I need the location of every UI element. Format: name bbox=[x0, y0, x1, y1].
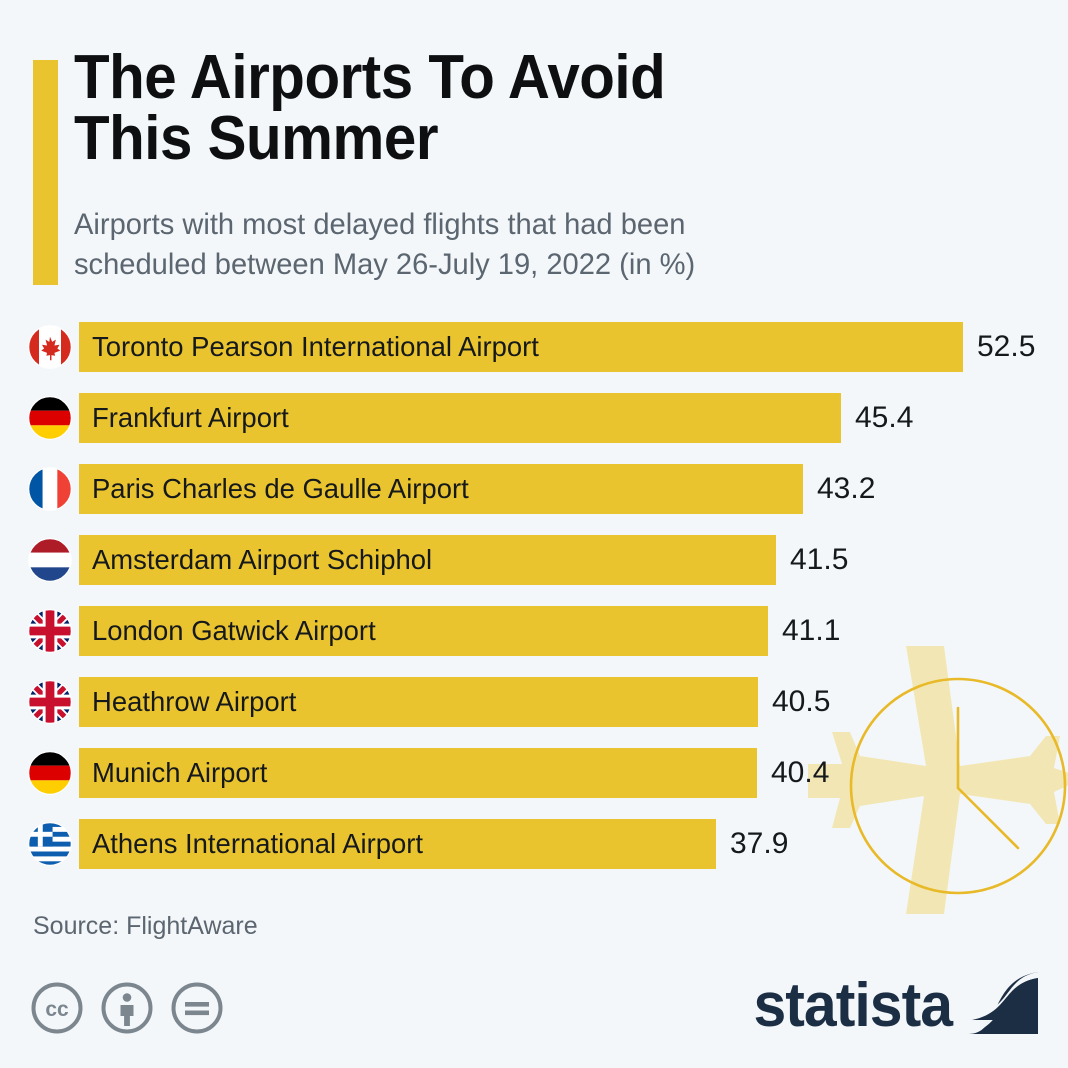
chart-row: Paris Charles de Gaulle Airport43.2 bbox=[0, 464, 1068, 514]
bar-value-label: 52.5 bbox=[977, 322, 1035, 372]
source-note: Source: FlightAware bbox=[33, 912, 258, 941]
bar-value-label: 45.4 bbox=[855, 393, 913, 443]
chart-row: London Gatwick Airport41.1 bbox=[0, 606, 1068, 656]
bar-value-label: 40.5 bbox=[772, 677, 830, 727]
svg-text:cc: cc bbox=[45, 998, 69, 1021]
bar-chart: Toronto Pearson International Airport52.… bbox=[0, 322, 1068, 892]
cc-icon[interactable]: cc bbox=[30, 981, 84, 1035]
title-accent-bar bbox=[33, 60, 58, 285]
header: The Airports To Avoid This Summer Airpor… bbox=[0, 0, 1068, 300]
bar-category-label: Athens International Airport bbox=[92, 819, 423, 869]
flag-germany-icon bbox=[28, 396, 72, 440]
flag-united-kingdom-icon bbox=[28, 609, 72, 653]
flag-united-kingdom-icon bbox=[28, 680, 72, 724]
bar-value-label: 41.1 bbox=[782, 606, 840, 656]
chart-row: Munich Airport40.4 bbox=[0, 748, 1068, 798]
flag-netherlands-icon bbox=[28, 538, 72, 582]
bar-category-label: Frankfurt Airport bbox=[92, 393, 289, 443]
flag-germany-icon bbox=[28, 751, 72, 795]
statista-wordmark: statista bbox=[753, 975, 952, 1037]
flag-france-icon bbox=[28, 467, 72, 511]
page-title: The Airports To Avoid This Summer bbox=[74, 48, 920, 170]
page-subtitle: Airports with most delayed flights that … bbox=[74, 205, 928, 285]
statista-mark-icon bbox=[968, 972, 1038, 1039]
chart-row: Frankfurt Airport45.4 bbox=[0, 393, 1068, 443]
statista-logo[interactable]: statista bbox=[743, 972, 1038, 1039]
cc-no-derivatives-icon[interactable] bbox=[170, 981, 224, 1035]
chart-row: Heathrow Airport40.5 bbox=[0, 677, 1068, 727]
flag-canada-icon bbox=[28, 325, 72, 369]
infographic-root: The Airports To Avoid This Summer Airpor… bbox=[0, 0, 1068, 1068]
bar-category-label: Toronto Pearson International Airport bbox=[92, 322, 539, 372]
bar-category-label: Paris Charles de Gaulle Airport bbox=[92, 464, 469, 514]
bar-value-label: 41.5 bbox=[790, 535, 848, 585]
chart-row: Toronto Pearson International Airport52.… bbox=[0, 322, 1068, 372]
creative-commons-icons: cc bbox=[30, 981, 224, 1035]
bar-category-label: Amsterdam Airport Schiphol bbox=[92, 535, 432, 585]
bar-value-label: 37.9 bbox=[730, 819, 788, 869]
chart-row: Amsterdam Airport Schiphol41.5 bbox=[0, 535, 1068, 585]
bar-value-label: 40.4 bbox=[771, 748, 829, 798]
cc-attribution-icon[interactable] bbox=[100, 981, 154, 1035]
bar-category-label: Heathrow Airport bbox=[92, 677, 296, 727]
flag-greece-icon bbox=[28, 822, 72, 866]
chart-row: Athens International Airport37.9 bbox=[0, 819, 1068, 869]
bar-category-label: London Gatwick Airport bbox=[92, 606, 376, 656]
bar-value-label: 43.2 bbox=[817, 464, 875, 514]
bar-category-label: Munich Airport bbox=[92, 748, 267, 798]
